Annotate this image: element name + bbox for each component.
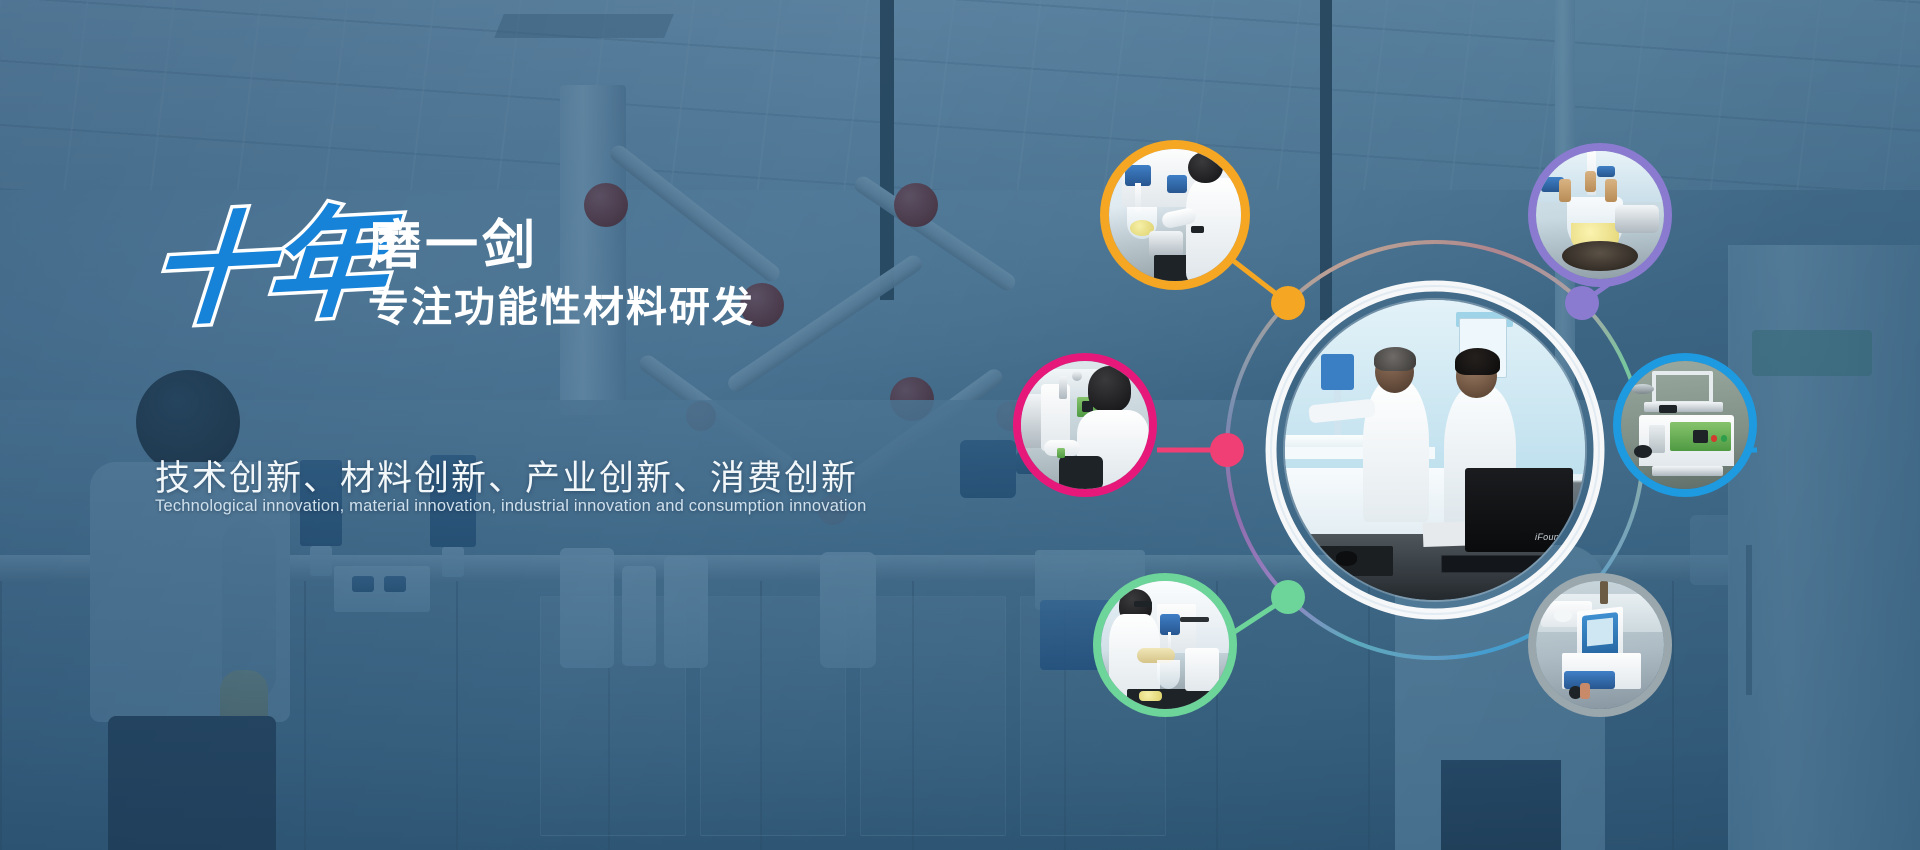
hub-node-test-equipment[interactable] bbox=[1528, 573, 1672, 717]
hub-diagram: iFound bbox=[1000, 100, 1800, 800]
subtitle-english: Technological innovation, material innov… bbox=[155, 497, 867, 516]
hub-node-reactor-sampling[interactable] bbox=[1100, 140, 1250, 290]
headline-block: 十年 磨一剑 专注功能性材料研发 bbox=[150, 230, 870, 360]
subtitle-chinese: 技术创新、材料创新、产业创新、消费创新 bbox=[155, 450, 858, 501]
hub-node-three-neck-flask[interactable] bbox=[1528, 143, 1672, 287]
hero-banner: 十年 磨一剑 专注功能性材料研发 技术创新、材料创新、产业创新、消费创新 Tec… bbox=[0, 0, 1920, 850]
hub-node-peel-tester[interactable] bbox=[1613, 353, 1757, 497]
headline-line-1: 磨一剑 bbox=[368, 218, 755, 274]
hub-node-coating-machine[interactable] bbox=[1013, 353, 1157, 497]
hub-center-photo[interactable]: iFound bbox=[1285, 300, 1585, 600]
headline-line-2: 专注功能性材料研发 bbox=[368, 282, 755, 333]
brush-calligraphy-text: 十年 bbox=[145, 202, 387, 334]
hub-node-lab-mixing[interactable] bbox=[1093, 573, 1237, 717]
monitor-brand-label: iFound bbox=[1535, 532, 1564, 542]
